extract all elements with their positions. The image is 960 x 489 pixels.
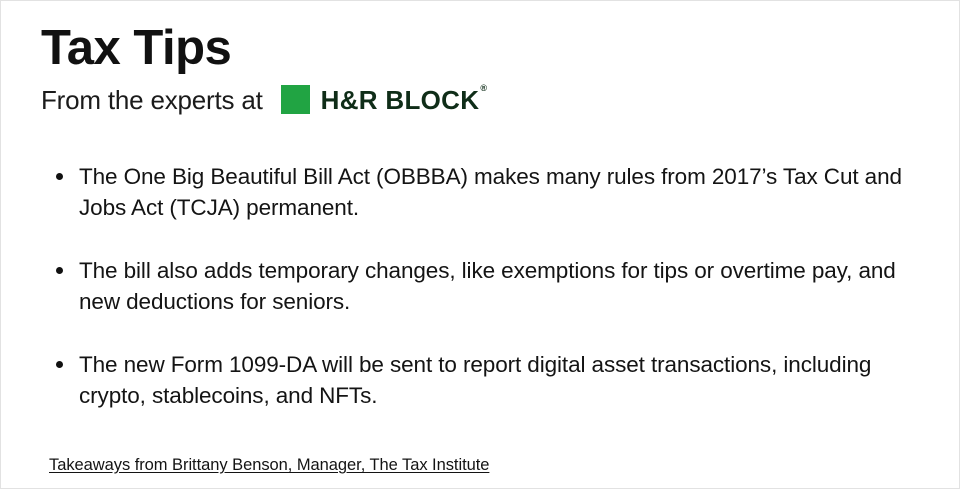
- list-item-text: The One Big Beautiful Bill Act (OBBBA) m…: [79, 164, 902, 220]
- list-item: The One Big Beautiful Bill Act (OBBBA) m…: [51, 161, 941, 223]
- bullet-dot-icon: [56, 173, 63, 180]
- tax-tips-slide: Tax Tips From the experts at H&R BLOCK® …: [0, 0, 960, 489]
- bullet-dot-icon: [56, 267, 63, 274]
- list-item: The bill also adds temporary changes, li…: [51, 255, 941, 317]
- slide-header: Tax Tips From the experts at H&R BLOCK®: [41, 23, 921, 117]
- list-item-text: The bill also adds temporary changes, li…: [79, 258, 896, 314]
- green-square-icon: [281, 85, 310, 114]
- attribution-footer: Takeaways from Brittany Benson, Manager,…: [49, 456, 489, 475]
- brand-name: H&R BLOCK: [321, 85, 480, 115]
- hr-block-logo: H&R BLOCK®: [281, 85, 487, 114]
- trademark-icon: ®: [480, 83, 487, 93]
- bullet-dot-icon: [56, 361, 63, 368]
- list-item: The new Form 1099-DA will be sent to rep…: [51, 349, 941, 411]
- page-title: Tax Tips: [41, 23, 921, 74]
- list-item-text: The new Form 1099-DA will be sent to rep…: [79, 352, 871, 408]
- subtitle-text: From the experts at: [41, 87, 263, 113]
- tips-list: The One Big Beautiful Bill Act (OBBBA) m…: [51, 161, 941, 411]
- subtitle-row: From the experts at H&R BLOCK®: [41, 83, 921, 117]
- hr-block-wordmark: H&R BLOCK®: [321, 87, 487, 113]
